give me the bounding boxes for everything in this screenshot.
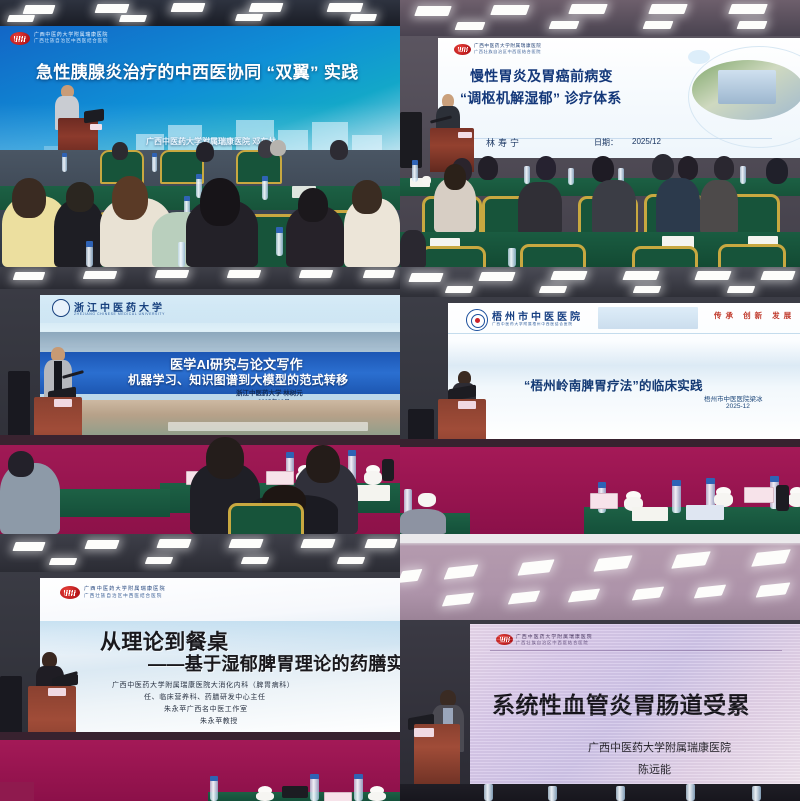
ceiling-light [249,3,284,12]
ceiling [400,534,800,620]
slide-content: 广西中医药大学附属瑞康医院 广西壮族自治区中西医结合医院 系统性血管炎胃肠道受累… [470,624,800,784]
ceiling-light [95,4,130,13]
slide-subtitle: 机器学习、知识图谱到大模型的范式转移 [128,371,348,388]
ceiling [400,0,800,36]
ceiling [0,534,400,572]
ceiling [400,267,800,297]
slide-credit-line2: 任、临床营养科、药膳研发中心主任 [144,692,266,702]
podium-nameplate [90,124,102,130]
panel-theory-to-table-diet-lecture[interactable]: 广西中医药大学附属瑞康医院 广西壮族自治区中西医结合医院 从理论到餐桌 ——基于… [0,534,400,801]
slide-content: 梧州市中医医院 广西中医药大学附属梧州中西医结合医院 传承 创新 发展 “梧州岭… [448,303,800,439]
ceiling-light [349,14,377,21]
slide-title: “梧州岭南脾胃疗法”的临床实践 [524,375,703,394]
podium-nameplate [458,132,472,138]
slide-subtitle: ——基于湿郁脾胃理论的药膳实践 [148,650,400,676]
chair [632,246,698,267]
slide-slogan: 传承 创新 发展 [714,310,795,321]
loudspeaker [8,371,30,439]
hospital-logo-icon [60,586,80,599]
slide-hospital: 梧州市中医医院 [492,308,583,323]
ceiling [0,267,400,289]
ceiling [0,0,400,26]
slide-content: 浙江中医药大学 ZHEJIANG CHINESE MEDICAL UNIVERS… [40,295,400,437]
slide-content: 广西中医药大学附属瑞康医院 广西壮族自治区中西医结合医院 从理论到餐桌 ——基于… [40,578,400,733]
slide-logo-line2: 广西壮族自治区中西医结合医院 [84,593,162,599]
podium-nameplate [414,728,434,737]
projection-screen: 广西中医药大学附属瑞康医院 广西壮族自治区中西医结合医院 系统性血管炎胃肠道受累… [470,624,800,784]
photo-collage: 广西中医药大学附属瑞康医院 广西壮族自治区中西医结合医院 急性胰腺炎治疗的中西医… [0,0,800,801]
ceiling-light [7,15,35,22]
slide-presenter: 林寿宁 [486,136,522,149]
slide-content: 广西中医药大学附属瑞康医院 广西壮族自治区中西医结合医院 慢性胃炎及胃癌前病变 … [438,38,800,158]
slide-credit-line4: 朱永苹教授 [200,716,238,726]
slide-presenter: 浙江中医药大学 林树元 [236,387,303,397]
slide-title-line1: 慢性胃炎及胃癌前病变 [470,66,613,86]
slide-logo-line2: 广西壮族自治区中西医结合医院 [474,49,541,55]
chair [420,246,486,267]
audience-member [400,509,446,534]
chair [228,503,304,534]
ceiling-light [327,3,364,12]
hospital-logo-icon [466,309,488,331]
hospital-logo-icon [454,44,471,55]
podium-nameplate [48,688,66,696]
projection-screen: 梧州市中医医院 广西中医药大学附属梧州中西医结合医院 传承 创新 发展 “梧州岭… [448,303,800,439]
slide-credit-line1: 广西中医药大学附属瑞康医院大消化内科（脾胃病科） [112,680,294,690]
slide-affiliation: 梧州市中医医院梁冰 [704,393,763,403]
projection-screen: 广西中医药大学附属瑞康医院 广西壮族自治区中西医结合医院 从理论到餐桌 ——基于… [40,578,400,733]
slide-title: 急性胰腺炎治疗的中西医协同 “双翼” 实践 [36,58,359,83]
slide-date: 2025-12 [726,403,750,410]
projection-screen: 浙江中医药大学 ZHEJIANG CHINESE MEDICAL UNIVERS… [40,295,400,437]
slide-logo-line2: 广西壮族自治区中西医结合医院 [34,38,108,44]
projection-screen: 广西中医药大学附属瑞康医院 广西壮族自治区中西医结合医院 慢性胃炎及胃癌前病变 … [438,38,800,158]
audience-member [592,180,636,234]
chair [520,244,586,267]
ceiling-light [235,14,263,21]
panel-wuzhou-lingnan-therapy-lecture[interactable]: 梧州市中医医院 广西中医药大学附属梧州中西医结合医院 传承 创新 发展 “梧州岭… [400,267,800,534]
ceiling-light [23,5,56,14]
ceiling-light [119,15,147,22]
floor [400,784,800,801]
panel-acute-pancreatitis-lecture[interactable]: 广西中医药大学附属瑞康医院 广西壮族自治区中西医结合医院 急性胰腺炎治疗的中西医… [0,0,400,267]
audience-member [656,178,700,234]
audience-member [518,182,562,234]
chair [718,244,786,267]
slide-date-value: 2025/12 [632,137,661,146]
slide-hospital-sub: 广西中医药大学附属梧州中西医结合医院 [492,322,573,327]
panel-chronic-gastritis-lecture[interactable]: 广西中医药大学附属瑞康医院 广西壮族自治区中西医结合医院 慢性胃炎及胃癌前病变 … [400,0,800,267]
loudspeaker [400,112,422,168]
panel-medical-ai-research-lecture[interactable]: 浙江中医药大学 ZHEJIANG CHINESE MEDICAL UNIVERS… [0,267,400,534]
slide-logo-line1: 广西中医药大学附属瑞康医院 [84,585,166,592]
podium-nameplate [458,401,476,409]
ceiling-light [171,3,206,12]
audience-member [400,230,426,267]
panel-systemic-vasculitis-gi-lecture[interactable]: 广西中医药大学附属瑞康医院 广西壮族自治区中西医结合医院 系统性血管炎胃肠道受累… [400,534,800,801]
slide-university-en: ZHEJIANG CHINESE MEDICAL UNIVERSITY [74,312,165,316]
audience-member [700,180,738,234]
slide-credit-line3: 朱永苹广西名中医工作室 [164,704,248,714]
hospital-logo-icon [10,32,30,45]
podium-nameplate [54,399,72,407]
slide-date-label: 日期： [594,137,618,148]
slide-title-line2: “调枢机解湿郁” 诊疗体系 [460,88,622,108]
slide-logo-line1: 广西中医药大学附属瑞康医院 [34,31,108,38]
